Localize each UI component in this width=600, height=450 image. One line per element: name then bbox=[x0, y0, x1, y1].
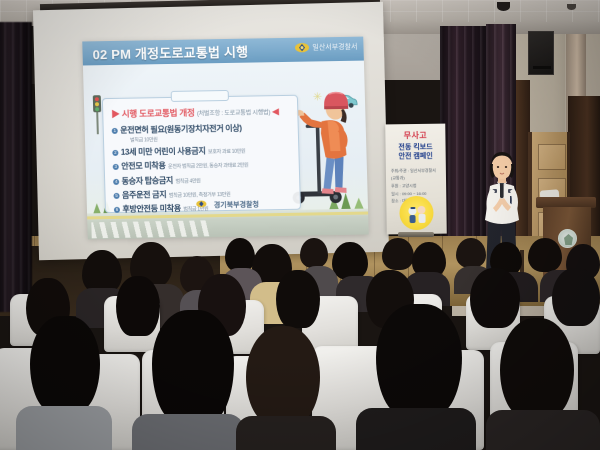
panel-notch bbox=[171, 90, 229, 102]
bullet-number: 2 bbox=[112, 150, 118, 156]
banner-title-line2: 전동 킥보드안전 캠페인 bbox=[386, 143, 446, 163]
list-item: 2 13세 미만 어린이 사용금지 보호자 과료 10만원 bbox=[112, 144, 298, 158]
bullet-number: 4 bbox=[113, 178, 119, 184]
bullet-text: 13세 미만 어린이 사용금지 bbox=[121, 146, 206, 158]
police-crest-icon bbox=[196, 199, 211, 211]
audience-head bbox=[470, 268, 520, 328]
bullet-fine: 운전자 범칙금 2만원, 동승자 과태료 2만원 bbox=[168, 162, 249, 170]
slide-title-text: 개정도로교통법 시행 bbox=[135, 44, 249, 61]
crosswalk-graphic bbox=[91, 220, 211, 238]
bullet-text: 음주운전 금지 bbox=[122, 189, 167, 201]
audience-head bbox=[152, 310, 234, 422]
slide-title: 02 PM 개정도로교통법 시행 bbox=[92, 41, 248, 63]
audience-head bbox=[276, 270, 320, 328]
bullet-note: 벌칙금 10만원 bbox=[130, 134, 298, 144]
rollup-banner: 무사고 전동 킥보드안전 캠페인 주최/주관 : 일산서부경찰서 (교통과) 후… bbox=[385, 124, 447, 235]
bullet-fine: 범칙금 10만원, 측정거부 13만원 bbox=[169, 191, 231, 199]
ceiling-dome-light-icon bbox=[497, 2, 510, 11]
police-crest-icon bbox=[294, 42, 309, 54]
audience-head bbox=[382, 238, 414, 270]
panel-heading-text: 시행 도로교통법 개정 bbox=[122, 108, 195, 119]
audience-head bbox=[528, 238, 562, 272]
police-mascot-icon bbox=[399, 196, 433, 230]
bullet-fine: 범칙금 4만원 bbox=[175, 177, 200, 184]
ceiling-vent-icon bbox=[567, 4, 576, 10]
marker-left-icon: ▶ bbox=[111, 109, 120, 119]
audience-head bbox=[225, 238, 255, 272]
banner-title-line1: 무사고 bbox=[385, 130, 445, 142]
bullet-text: 동승자 탑승금지 bbox=[122, 174, 174, 186]
panel-heading-sub: (처벌조항 : 도로교통법 시행법) bbox=[197, 110, 270, 117]
list-item: 4 동승자 탑승금지 범칙금 4만원 bbox=[113, 172, 299, 186]
banner-base-stand bbox=[398, 232, 434, 237]
audience-head bbox=[456, 238, 486, 268]
audience-head bbox=[376, 304, 462, 416]
audience-head bbox=[500, 318, 574, 418]
slide-header-logo: 일산서부경찰서 bbox=[294, 41, 357, 54]
marker-right-icon: ◀ bbox=[272, 106, 279, 116]
audience-head bbox=[246, 326, 320, 424]
audience-head bbox=[300, 238, 328, 268]
audience-torso bbox=[486, 410, 600, 450]
slide-header-org: 일산서부경찰서 bbox=[312, 42, 357, 53]
traffic-light-icon bbox=[93, 95, 102, 133]
bullet-text: 안전모 미착용 bbox=[121, 160, 166, 172]
slide-content-panel: ▶ 시행 도로교통법 개정 (처벌조항 : 도로교통법 시행법) ◀ 1 운전면… bbox=[102, 95, 301, 213]
audience-torso bbox=[356, 408, 476, 450]
audience-head bbox=[332, 242, 368, 280]
list-item: 3 안전모 미착용 운전자 범칙금 2만원, 동승자 과태료 2만원 bbox=[113, 158, 299, 172]
wall-speaker-icon bbox=[528, 31, 554, 75]
presentation-slide: 02 PM 개정도로교통법 시행 일산서부경찰서 bbox=[82, 37, 369, 240]
auditorium-photo: 02 PM 개정도로교통법 시행 일산서부경찰서 bbox=[0, 0, 600, 450]
audience-head bbox=[30, 316, 100, 412]
audience-head bbox=[552, 268, 600, 326]
banner-detail-0: 주최/주관 : 일산서부경찰서 bbox=[391, 167, 442, 175]
panel-heading: ▶ 시행 도로교통법 개정 (처벌조항 : 도로교통법 시행법) ◀ bbox=[111, 105, 297, 120]
slide-footer-org: 경기북부경찰청 bbox=[214, 199, 259, 210]
audience-torso bbox=[236, 416, 336, 450]
audience-seating bbox=[0, 238, 600, 450]
bullet-number: 5 bbox=[113, 193, 119, 199]
audience-torso bbox=[132, 414, 244, 450]
bullet-fine: 보호자 과료 10만원 bbox=[208, 148, 245, 156]
bullet-text: 운전면허 필요(원동기장치자전거 이상) bbox=[120, 123, 242, 136]
slide-time-label: 02 PM bbox=[92, 46, 131, 62]
slide-body: ✳ bbox=[83, 61, 369, 240]
audience-head bbox=[116, 276, 160, 336]
bullet-number: 1 bbox=[112, 128, 118, 134]
bullet-number: 3 bbox=[113, 164, 119, 170]
audience-torso bbox=[16, 406, 112, 450]
